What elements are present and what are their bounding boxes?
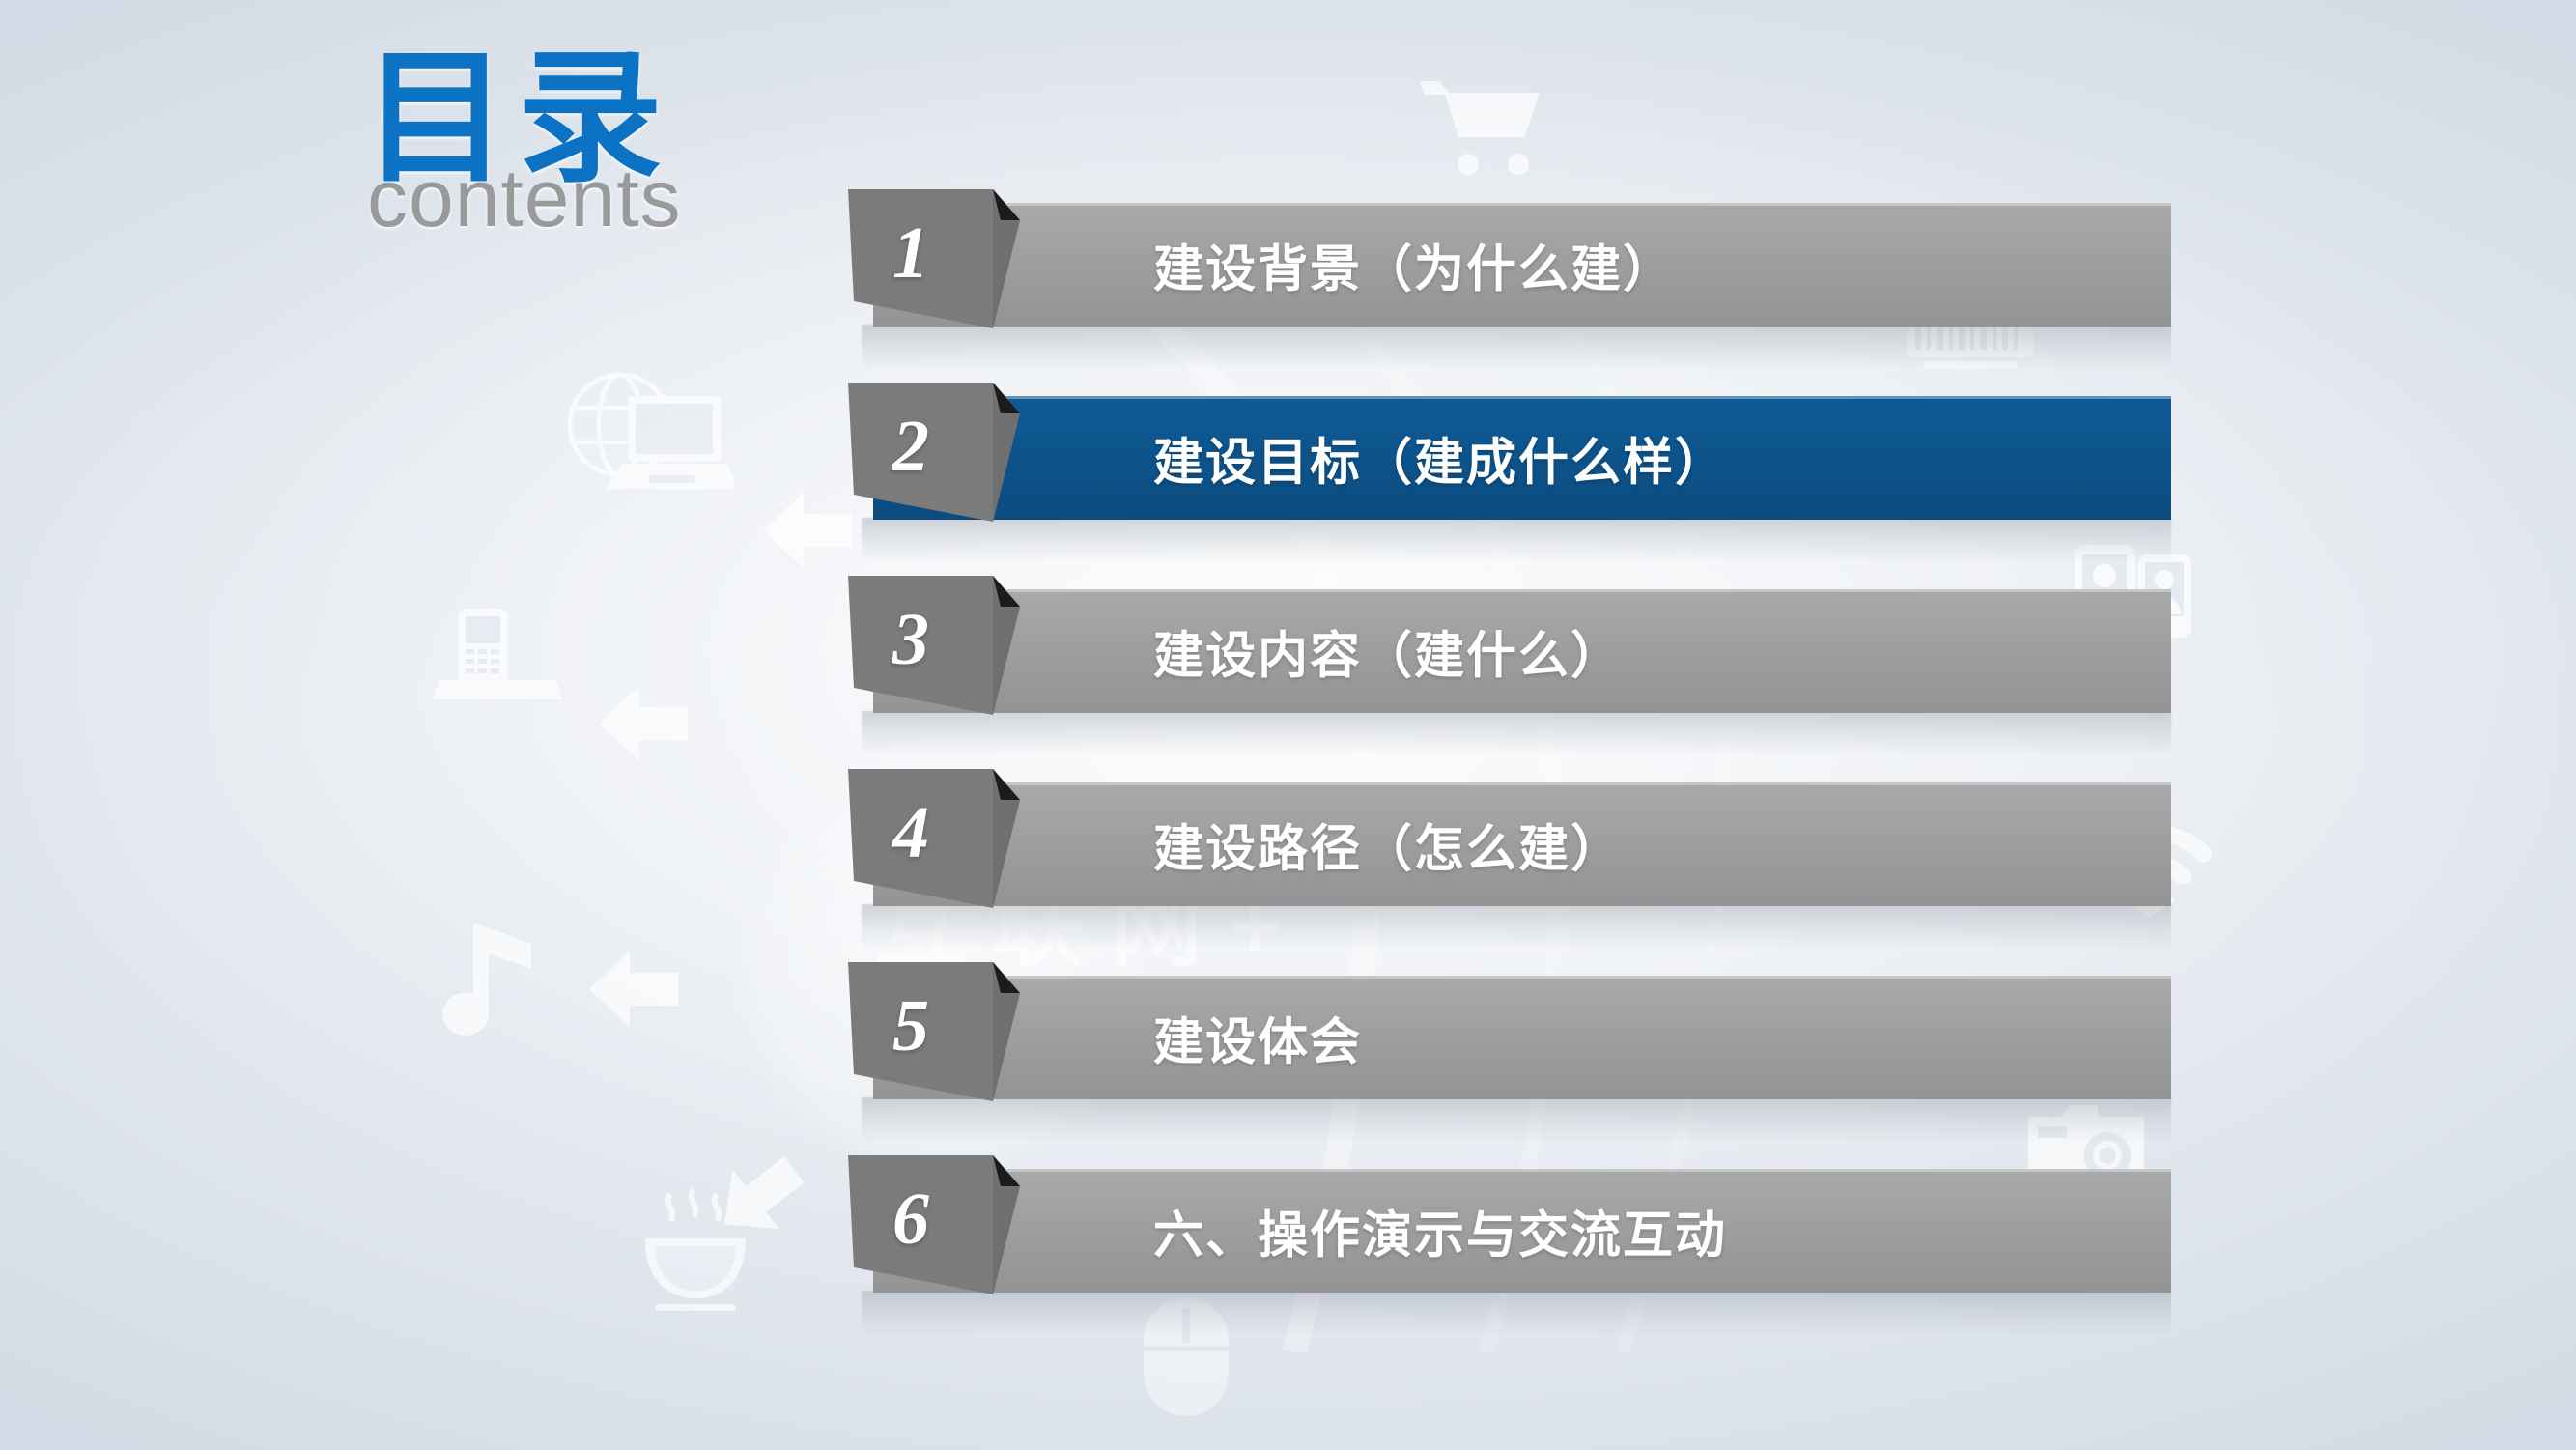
toc-item-label: 建设背景（为什么建） <box>1153 229 1675 301</box>
toc-number-tab: 3 <box>848 570 1032 725</box>
page-title: 目录 contents <box>363 44 682 231</box>
toc-item-label: 建设内容（建什么） <box>1153 615 1623 688</box>
toc-number: 6 <box>892 1182 929 1256</box>
toc-item-4[interactable]: 建设路径（怎么建） 4 <box>848 755 2171 949</box>
toc-number: 2 <box>892 410 929 483</box>
shopping-cart-icon <box>1418 75 1543 182</box>
toc-number: 5 <box>892 989 929 1063</box>
toc-bar[interactable]: 建设体会 <box>873 976 2171 1099</box>
toc-number: 3 <box>892 603 929 676</box>
toc-number-tab: 6 <box>848 1150 1032 1304</box>
toc-item-2[interactable]: 建设目标（建成什么样） 2 <box>848 369 2171 562</box>
toc-item-label: 建设体会 <box>1153 1002 1362 1074</box>
toc-bar[interactable]: 建设内容（建什么） <box>873 589 2171 713</box>
arrow-left-icon <box>763 493 852 568</box>
arrow-left-icon <box>599 686 688 761</box>
toc-number: 4 <box>892 796 929 869</box>
toc-number-tab: 4 <box>848 763 1032 918</box>
toc-item-5[interactable]: 建设体会 5 <box>848 949 2171 1142</box>
title-english: contents <box>367 167 682 231</box>
bar-shadow <box>862 518 2171 562</box>
toc-bar[interactable]: 建设路径（怎么建） <box>873 782 2171 906</box>
music-note-icon <box>435 923 541 1048</box>
toc-bar[interactable]: 建设背景（为什么建） <box>873 203 2171 327</box>
bar-shadow <box>862 1097 2171 1142</box>
phone-dock-icon <box>433 609 568 705</box>
toc-item-6[interactable]: 六、操作演示与交流互动 6 <box>848 1142 2171 1335</box>
table-of-contents: 建设背景（为什么建） 1 建设目标（建成什么样） 2 建设内 <box>848 176 2171 1335</box>
toc-number-tab: 1 <box>848 184 1032 338</box>
toc-item-3[interactable]: 建设内容（建什么） 3 <box>848 562 2171 755</box>
globe-laptop-icon <box>560 367 734 507</box>
coffee-cup-icon <box>637 1188 753 1314</box>
toc-number-tab: 2 <box>848 377 1032 531</box>
arrow-left-icon <box>701 1140 818 1254</box>
toc-item-label: 建设目标（建成什么样） <box>1153 422 1727 495</box>
bar-shadow <box>862 711 2171 755</box>
toc-item-label: 六、操作演示与交流互动 <box>1153 1195 1727 1267</box>
toc-bar[interactable]: 六、操作演示与交流互动 <box>873 1169 2171 1293</box>
toc-item-1[interactable]: 建设背景（为什么建） 1 <box>848 176 2171 369</box>
toc-item-label: 建设路径（怎么建） <box>1153 809 1623 881</box>
arrow-left-icon <box>589 952 678 1027</box>
bar-shadow <box>862 1291 2171 1335</box>
bar-shadow <box>862 325 2171 369</box>
bar-shadow <box>862 904 2171 949</box>
toc-bar-active[interactable]: 建设目标（建成什么样） <box>873 396 2171 520</box>
toc-number-tab: 5 <box>848 956 1032 1111</box>
toc-number: 1 <box>892 216 929 290</box>
